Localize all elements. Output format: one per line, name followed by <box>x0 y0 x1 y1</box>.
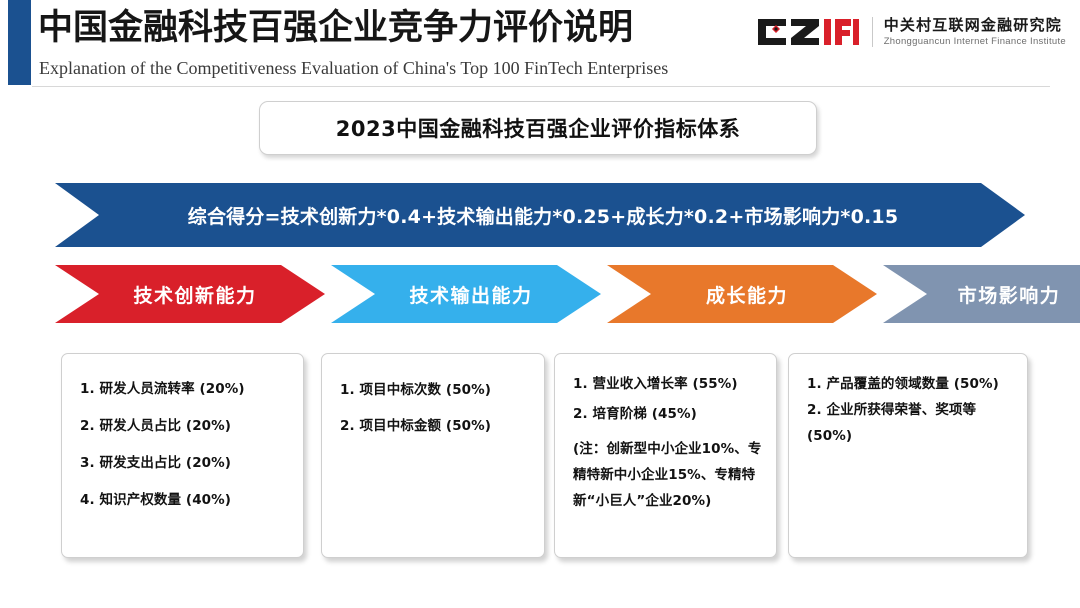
list-item: 1. 营业收入增长率 (55%) <box>573 376 762 393</box>
list-item: 1. 产品覆盖的领域数量 (50%) <box>807 376 1013 393</box>
header-accent-bar <box>8 0 31 85</box>
list-item: 2. 研发人员占比 (20%) <box>80 418 289 435</box>
indicator-card-tech-innovation: 1. 研发人员流转率 (20%) 2. 研发人员占比 (20%) 3. 研发支出… <box>61 353 304 558</box>
indicator-card-growth: 1. 营业收入增长率 (55%) 2. 培育阶梯 (45%) (注：创新型中小企… <box>554 353 777 558</box>
czifi-logomark-icon <box>756 17 872 47</box>
institute-name: 中关村互联网金融研究院 Zhongguancun Internet Financ… <box>884 16 1066 48</box>
page-title: 中国金融科技百强企业竞争力评价说明 <box>38 6 633 50</box>
growth-note: (注：创新型中小企业10%、专精特新中小企业15%、专精特新“小巨人”企业20%… <box>573 436 762 514</box>
dimension-chevron-tech-innovation[interactable]: 技术创新能力 <box>55 265 325 323</box>
list-item: 2. 项目中标金额 (50%) <box>340 418 530 435</box>
list-item: (50%) <box>807 428 1013 445</box>
dimension-chevron-growth[interactable]: 成长能力 <box>607 265 877 323</box>
indicator-card-tech-output: 1. 项目中标次数 (50%) 2. 项目中标金额 (50%) <box>321 353 545 558</box>
slide-canvas: 中国金融科技百强企业竞争力评价说明 Explanation of the Com… <box>0 0 1080 608</box>
dimension-chevron-tech-output[interactable]: 技术输出能力 <box>331 265 601 323</box>
dimension-label: 技术创新能力 <box>133 281 256 308</box>
indicator-system-title-box: 2023中国金融科技百强企业评价指标体系 <box>259 101 817 155</box>
indicator-card-market-influence: 1. 产品覆盖的领域数量 (50%) 2. 企业所获得荣誉、奖项等 (50%) <box>788 353 1028 558</box>
page-subtitle: Explanation of the Competitiveness Evalu… <box>39 57 668 79</box>
institute-name-en: Zhongguancun Internet Finance Institute <box>884 36 1066 48</box>
dimension-chevron-market-influence[interactable]: 市场影响力 <box>883 265 1080 323</box>
dimension-label: 市场影响力 <box>958 281 1061 308</box>
list-item: 4. 知识产权数量 (40%) <box>80 492 289 509</box>
list-item: 2. 培育阶梯 (45%) <box>573 406 762 423</box>
dimension-label: 技术输出能力 <box>409 281 532 308</box>
institute-name-cn: 中关村互联网金融研究院 <box>884 16 1066 34</box>
list-item: 1. 项目中标次数 (50%) <box>340 382 530 399</box>
institute-logo: 中关村互联网金融研究院 Zhongguancun Internet Financ… <box>756 10 1066 54</box>
list-item: 2. 企业所获得荣誉、奖项等 <box>807 402 1013 419</box>
header-divider <box>32 86 1050 87</box>
score-formula-banner: 综合得分=技术创新力*0.4+技术输出能力*0.25+成长力*0.2+市场影响力… <box>55 183 1025 247</box>
dimension-label: 成长能力 <box>706 281 788 308</box>
list-item: 1. 研发人员流转率 (20%) <box>80 381 289 398</box>
list-item: 3. 研发支出占比 (20%) <box>80 455 289 472</box>
score-formula-text: 综合得分=技术创新力*0.4+技术输出能力*0.25+成长力*0.2+市场影响力… <box>188 202 899 229</box>
dimension-chevron-row: 技术创新能力 技术输出能力 成长能力 市场影响力 <box>55 265 1025 323</box>
indicator-system-title: 2023中国金融科技百强企业评价指标体系 <box>336 113 740 143</box>
logo-divider <box>872 17 873 47</box>
